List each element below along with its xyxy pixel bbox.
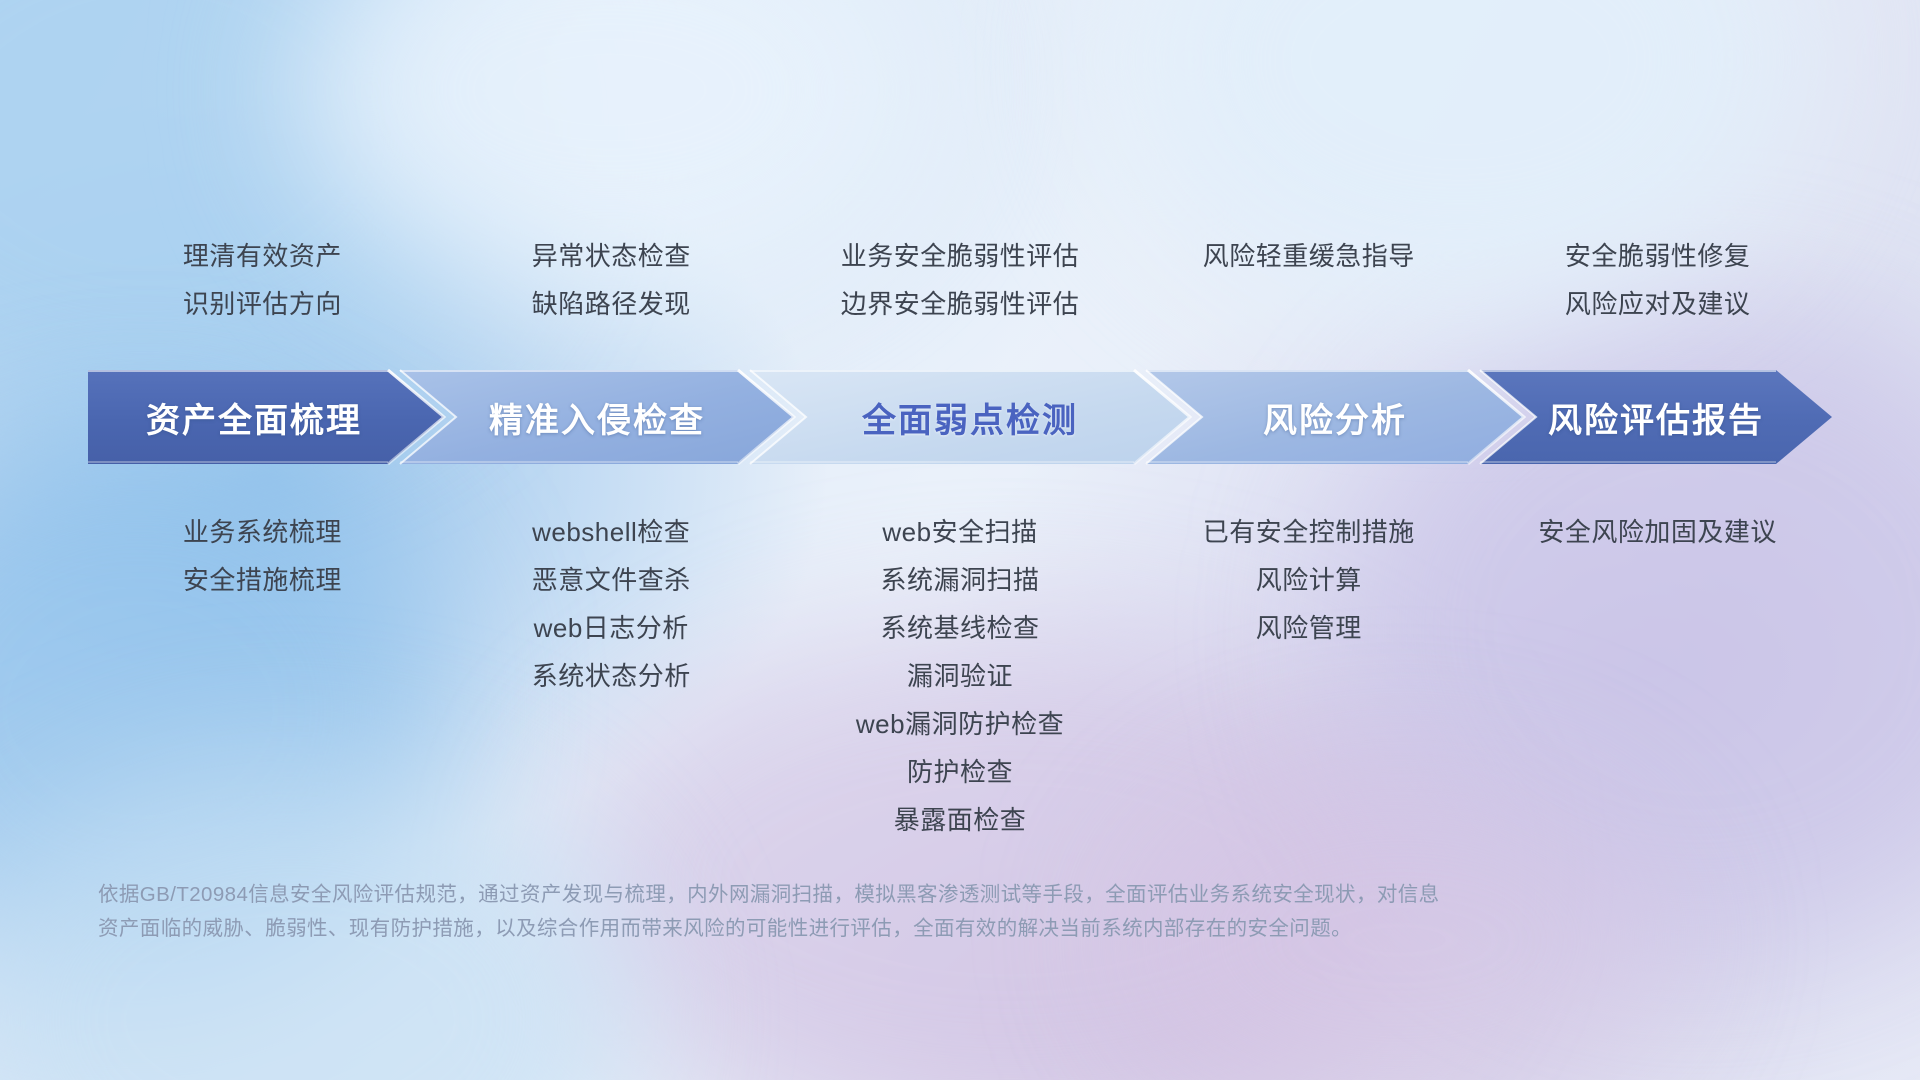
top-list-risk-report: 安全脆弱性修复 风险应对及建议 [1483, 232, 1832, 328]
bottom-list-item: 系统状态分析 [437, 652, 786, 700]
bottom-list-weakness-detection: web安全扫描 系统漏洞扫描 系统基线检查 漏洞验证 web漏洞防护检查 防护检… [786, 508, 1135, 844]
bottom-list-item: 风险管理 [1134, 604, 1483, 652]
top-list-weakness-detection: 业务安全脆弱性评估 边界安全脆弱性评估 [786, 232, 1135, 328]
bottom-list-item: 恶意文件查杀 [437, 556, 786, 604]
top-list-item: 边界安全脆弱性评估 [786, 280, 1135, 328]
top-list-item: 缺陷路径发现 [437, 280, 786, 328]
bottom-list-item: 安全风险加固及建议 [1483, 508, 1832, 556]
process-chevron-band [88, 368, 1832, 466]
bottom-list-item: web安全扫描 [786, 508, 1135, 556]
bottom-item-lists: 业务系统梳理 安全措施梳理 webshell检查 恶意文件查杀 web日志分析 … [88, 508, 1832, 844]
top-list-item: 安全脆弱性修复 [1483, 232, 1832, 280]
top-list-item: 识别评估方向 [88, 280, 437, 328]
top-list-item: 业务安全脆弱性评估 [786, 232, 1135, 280]
footer-line-1: 依据GB/T20984信息安全风险评估规范，通过资产发现与梳理，内外网漏洞扫描，… [98, 878, 1628, 912]
diagram-canvas: 理清有效资产 识别评估方向 异常状态检查 缺陷路径发现 业务安全脆弱性评估 边界… [0, 0, 1920, 1080]
top-item-lists: 理清有效资产 识别评估方向 异常状态检查 缺陷路径发现 业务安全脆弱性评估 边界… [88, 232, 1832, 328]
bottom-list-item: 系统基线检查 [786, 604, 1135, 652]
bottom-list-item: web漏洞防护检查 [786, 700, 1135, 748]
bottom-list-item: 业务系统梳理 [88, 508, 437, 556]
bottom-list-item: 已有安全控制措施 [1134, 508, 1483, 556]
top-list-intrusion-check: 异常状态检查 缺陷路径发现 [437, 232, 786, 328]
bottom-list-item: 系统漏洞扫描 [786, 556, 1135, 604]
top-list-item: 风险轻重缓急指导 [1134, 232, 1483, 280]
bottom-list-asset-inventory: 业务系统梳理 安全措施梳理 [88, 508, 437, 844]
bottom-list-item: 风险计算 [1134, 556, 1483, 604]
bottom-list-risk-analysis: 已有安全控制措施 风险计算 风险管理 [1134, 508, 1483, 844]
bottom-list-item: 漏洞验证 [786, 652, 1135, 700]
bottom-list-item: 防护检查 [786, 748, 1135, 796]
footer-description: 依据GB/T20984信息安全风险评估规范，通过资产发现与梳理，内外网漏洞扫描，… [98, 878, 1628, 946]
bottom-list-intrusion-check: webshell检查 恶意文件查杀 web日志分析 系统状态分析 [437, 508, 786, 844]
bottom-list-item: web日志分析 [437, 604, 786, 652]
bottom-list-risk-report: 安全风险加固及建议 [1483, 508, 1832, 844]
top-list-item: 理清有效资产 [88, 232, 437, 280]
bottom-list-item: 安全措施梳理 [88, 556, 437, 604]
top-list-asset-inventory: 理清有效资产 识别评估方向 [88, 232, 437, 328]
footer-line-2: 资产面临的威胁、脆弱性、现有防护措施，以及综合作用而带来风险的可能性进行评估，全… [98, 912, 1628, 946]
top-list-item: 异常状态检查 [437, 232, 786, 280]
bottom-list-item: webshell检查 [437, 508, 786, 556]
top-list-risk-analysis: 风险轻重缓急指导 [1134, 232, 1483, 328]
chevron-shapes [88, 368, 1832, 466]
top-list-item: 风险应对及建议 [1483, 280, 1832, 328]
bottom-list-item: 暴露面检查 [786, 796, 1135, 844]
